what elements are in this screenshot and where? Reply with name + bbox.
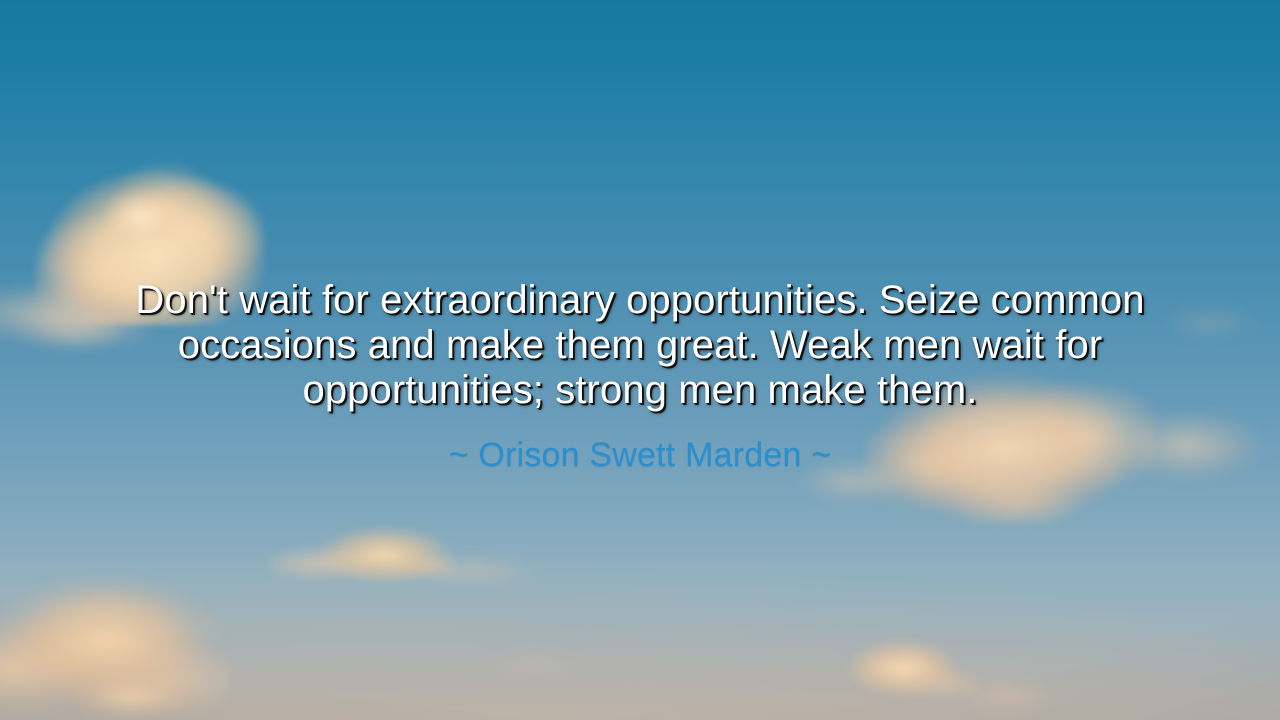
quote-block: Don't wait for extraordinary opportuniti… (0, 278, 1280, 475)
quote-attribution: ~ Orison Swett Marden ~ (60, 435, 1220, 475)
quote-card: Don't wait for extraordinary opportuniti… (0, 0, 1280, 720)
quote-text: Don't wait for extraordinary opportuniti… (130, 278, 1150, 413)
